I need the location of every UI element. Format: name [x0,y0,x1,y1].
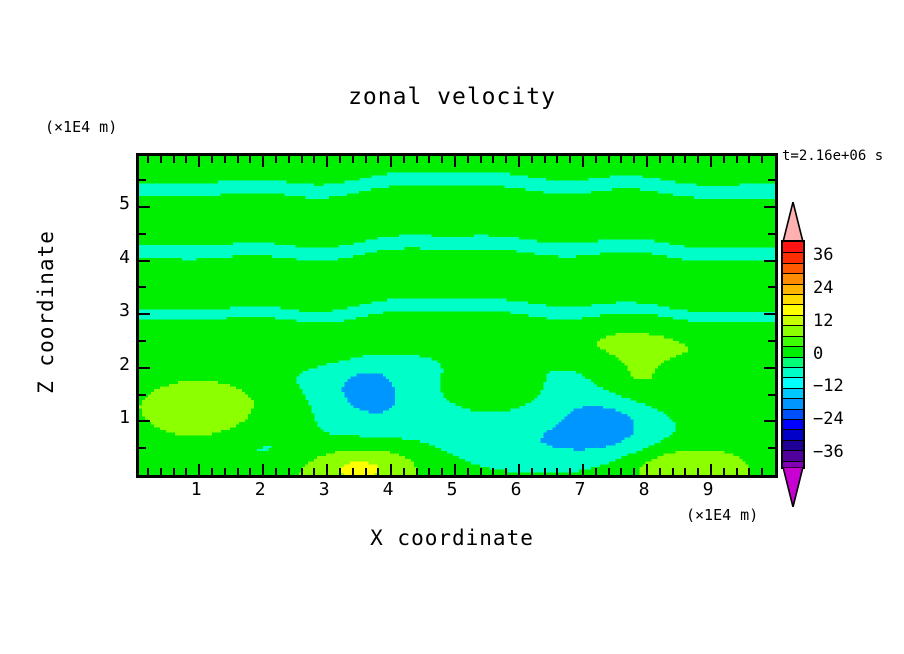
y-tick [139,206,150,208]
x-tick [428,156,430,163]
x-tick [352,468,354,475]
x-ticklabel: 3 [304,479,344,500]
colorbar[interactable]: 3624120−12−24−36 [781,202,805,507]
colorbar-band [783,388,803,399]
colorbar-band-separator [783,294,803,295]
y-tick [139,394,146,396]
x-tick [262,464,264,475]
x-tick [288,156,290,163]
colorbar-band [783,304,803,315]
colorbar-band [783,377,803,388]
y-tick [768,179,775,181]
x-tick [595,468,597,475]
colorbar-band-separator [783,398,803,399]
x-tick [633,156,635,163]
colorbar-band [783,409,803,420]
colorbar-band [783,440,803,451]
colorbar-band [783,429,803,440]
x-ticklabel: 6 [496,479,536,500]
x-tick [569,468,571,475]
x-tick [544,156,546,163]
contour-field-svg [139,156,775,475]
x-ticklabel: 7 [560,479,600,500]
y-ticklabel: 3 [96,300,130,321]
x-tick [352,156,354,163]
x-tick [313,156,315,163]
y-tick [768,447,775,449]
colorbar-band [783,273,803,284]
colorbar-ticklabel: −24 [813,409,844,429]
x-tick [160,156,162,163]
contour-field [139,156,775,475]
y-tick [139,340,146,342]
colorbar-ticklabel: 24 [813,278,833,298]
x-tick [505,468,507,475]
x-tick [697,156,699,163]
colorbar-band-separator [783,367,803,368]
colorbar-band [783,357,803,368]
x-tick [390,464,392,475]
x-tick [531,156,533,163]
y-tick [768,340,775,342]
x-ticklabel: 1 [176,479,216,500]
x-tick [288,468,290,475]
colorbar-band [783,252,803,263]
x-tick [761,468,763,475]
y-tick [139,313,150,315]
x-tick [646,464,648,475]
colorbar-ticklabel: 0 [813,344,823,364]
x-tick [761,156,763,163]
y-tick [764,313,775,315]
colorbar-band [783,294,803,305]
y-tick [139,420,150,422]
x-tick [672,468,674,475]
x-tick [441,156,443,163]
x-tick [326,156,328,167]
colorbar-ticklabel: 12 [813,311,833,331]
x-tick [275,468,277,475]
x-tick [441,468,443,475]
x-tick [518,156,520,167]
colorbar-band-separator [783,252,803,253]
y-tick [139,179,146,181]
y-tick [764,420,775,422]
x-tick [339,468,341,475]
x-tick [518,464,520,475]
colorbar-band-separator [783,263,803,264]
x-tick [659,156,661,163]
colorbar-band [783,336,803,347]
contour-plot-area [136,153,778,478]
x-tick [185,156,187,163]
x-tick [198,464,200,475]
x-tick [403,468,405,475]
x-tick [416,468,418,475]
colorbar-band [783,315,803,326]
x-axis-unit-label: (×1E4 m) [686,506,758,524]
colorbar-band-separator [783,450,803,451]
colorbar-band-separator [783,461,803,462]
colorbar-band [783,346,803,357]
x-tick [249,468,251,475]
x-tick [684,156,686,163]
x-tick [723,156,725,163]
x-tick [748,156,750,163]
colorbar-band-separator [783,440,803,441]
x-tick [582,464,584,475]
colorbar-band-separator [783,429,803,430]
colorbar-band-separator [783,336,803,337]
x-tick [377,156,379,163]
x-ticklabel: 9 [688,479,728,500]
colorbar-band [783,325,803,336]
timestamp-annotation: t=2.16e+06 s [782,148,883,164]
colorbar-band-separator [783,377,803,378]
colorbar-band [783,263,803,274]
x-tick [659,468,661,475]
x-tick [454,464,456,475]
y-tick [139,286,146,288]
x-tick [454,156,456,167]
x-tick [173,156,175,163]
x-tick [672,156,674,163]
y-tick [768,394,775,396]
x-tick [403,156,405,163]
x-tick [505,156,507,163]
x-tick [249,156,251,163]
x-ticklabel: 4 [368,479,408,500]
x-ticklabel: 2 [240,479,280,500]
y-ticklabel: 5 [96,193,130,214]
colorbar-band [783,419,803,430]
y-tick [139,233,146,235]
x-tick [467,156,469,163]
colorbar-band-separator [783,325,803,326]
colorbar-ticklabel: −36 [813,442,844,462]
y-tick [764,367,775,369]
colorbar-bands [781,240,805,469]
x-tick [480,468,482,475]
x-tick [736,156,738,163]
colorbar-band-separator [783,304,803,305]
figure-canvas: zonal velocity (×1E4 m) t=2.16e+06 s Z c… [0,0,904,654]
colorbar-band [783,450,803,461]
y-ticklabel: 4 [96,247,130,268]
y-ticklabel: 2 [96,354,130,375]
x-tick [480,156,482,163]
x-tick [275,156,277,163]
x-tick [224,156,226,163]
x-tick [582,156,584,167]
x-tick [544,468,546,475]
colorbar-over-arrow-icon [781,202,805,242]
page-title: zonal velocity [0,84,904,110]
colorbar-band [783,284,803,295]
x-tick [608,468,610,475]
x-tick [339,156,341,163]
y-tick [139,367,150,369]
x-tick [710,156,712,167]
colorbar-band-separator [783,419,803,420]
x-tick [646,156,648,167]
x-tick [224,468,226,475]
colorbar-band-separator [783,346,803,347]
x-tick [237,468,239,475]
x-tick [736,468,738,475]
y-tick [139,447,146,449]
x-tick [211,156,213,163]
x-tick [313,468,315,475]
x-ticklabel: 8 [624,479,664,500]
x-ticklabel: 5 [432,479,472,500]
x-tick [710,464,712,475]
x-tick [492,156,494,163]
colorbar-band-separator [783,357,803,358]
x-tick [185,468,187,475]
x-tick [569,156,571,163]
x-tick [301,156,303,163]
x-tick [620,468,622,475]
x-tick [211,468,213,475]
colorbar-under-arrow-icon [781,467,805,507]
colorbar-band-separator [783,388,803,389]
x-tick [390,156,392,167]
y-tick [764,206,775,208]
x-tick [147,468,149,475]
x-tick [633,468,635,475]
x-tick [428,468,430,475]
x-tick [160,468,162,475]
y-axis-unit-label: (×1E4 m) [45,118,117,136]
x-tick [608,156,610,163]
x-tick [416,156,418,163]
x-tick [365,156,367,163]
colorbar-band [783,242,803,253]
x-tick [697,468,699,475]
colorbar-ticklabel: −12 [813,376,844,396]
x-tick [326,464,328,475]
colorbar-band-separator [783,273,803,274]
x-tick [377,468,379,475]
x-tick [262,156,264,167]
x-tick [492,468,494,475]
x-tick [467,468,469,475]
y-tick [768,286,775,288]
x-tick [684,468,686,475]
x-axis-title: X coordinate [0,526,904,550]
y-tick [764,260,775,262]
colorbar-band-separator [783,315,803,316]
x-tick [365,468,367,475]
x-tick [198,156,200,167]
x-tick [556,468,558,475]
x-tick [723,468,725,475]
x-tick [173,468,175,475]
x-tick [147,156,149,163]
x-tick [748,468,750,475]
y-tick [139,260,150,262]
colorbar-band-separator [783,409,803,410]
x-tick [595,156,597,163]
x-tick [237,156,239,163]
colorbar-band [783,398,803,409]
y-ticklabel: 1 [96,407,130,428]
x-tick [620,156,622,163]
y-tick [768,233,775,235]
x-tick [301,468,303,475]
contour-bands [139,156,775,475]
y-axis-title: Z coordinate [34,202,58,422]
x-tick [531,468,533,475]
colorbar-band-separator [783,284,803,285]
colorbar-ticklabel: 36 [813,245,833,265]
colorbar-band [783,367,803,378]
x-tick [556,156,558,163]
